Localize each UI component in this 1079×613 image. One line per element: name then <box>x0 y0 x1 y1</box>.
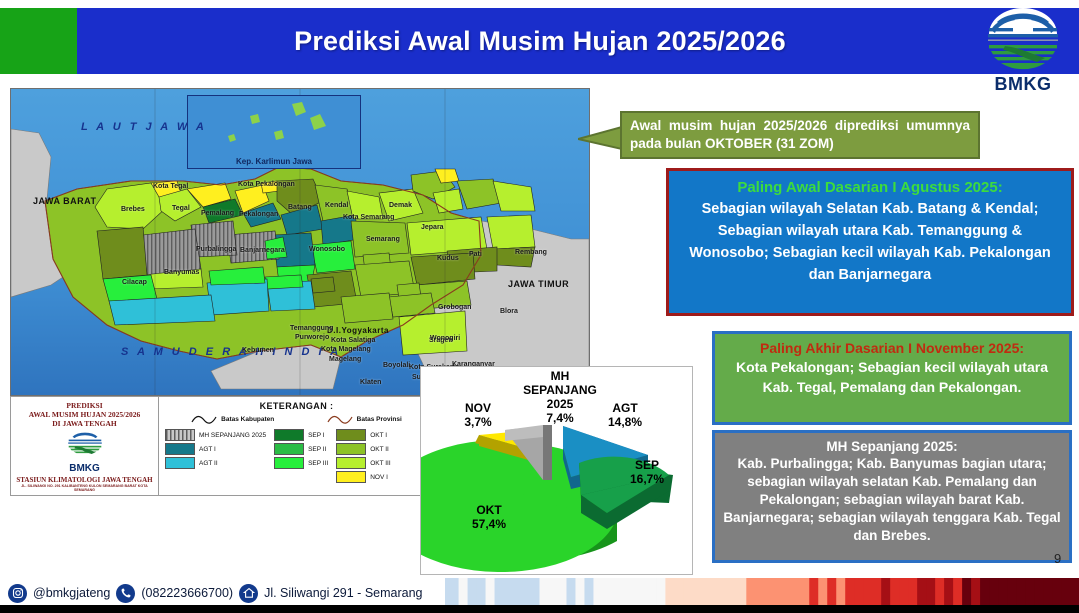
inset-label: Kep. Karlimun Jawa <box>188 157 360 166</box>
sea-label-laut-jawa: L A U T J A W A <box>81 121 207 133</box>
legend-swatch-label: NOV I <box>370 474 388 481</box>
legend-swatch-col-3: OKT I OKT II OKT III NOV I <box>336 429 390 483</box>
legend-swatch-label: OKT III <box>370 460 390 467</box>
region-label-grobogan: Grobogan <box>438 304 471 311</box>
region-label-banyumas: Banyumas <box>164 269 199 276</box>
region-label-purbalingga: Purbalingga <box>196 246 236 253</box>
legend-swatch-mh-sepanjang <box>165 429 195 441</box>
region-label-temanggung: Temanggung <box>290 325 333 332</box>
region-label-kota-magelang: Kota Magelang <box>321 346 371 353</box>
page-number: 9 <box>1054 551 1061 566</box>
legend-swatch-item: OKT II <box>336 443 390 455</box>
pie-label-mh-pct: 7,4% <box>546 411 573 425</box>
region-label-kudus: Kudus <box>437 255 459 262</box>
region-label-jepara: Jepara <box>421 224 444 231</box>
region-label-purworejo: Purworejo <box>295 334 329 341</box>
legend-swatch-item: AGT I <box>165 443 266 455</box>
pie-label-mh-line2: SEPANJANG <box>523 383 597 397</box>
legend-swatch-item: SEP III <box>274 457 328 469</box>
legend-swatch-item: AGT II <box>165 457 266 469</box>
legend-swatch-okt-2 <box>336 443 366 455</box>
pie-chart-panel: MH SEPANJANG 2025 7,4% NOV 3,7% AGT 14,8… <box>420 366 693 575</box>
office-address: Jl. Siliwangi 291 - Semarang <box>264 586 422 600</box>
info-box-paling-akhir: Paling Akhir Dasarian I November 2025: K… <box>712 331 1072 425</box>
legend-swatch-col-1: MH SEPANJANG 2025 AGT I AGT II <box>165 429 266 483</box>
info-box-paling-awal-body: Sebagian wilayah Selatan Kab. Batang & K… <box>679 198 1061 286</box>
map-image: Kep. Karlimun Jawa L A U T J A W A S A M… <box>10 88 590 396</box>
karimun-inset-vector <box>188 96 358 166</box>
bmkg-logo-text: BMKG <box>975 74 1071 94</box>
info-box-paling-awal: Paling Awal Dasarian I Agustus 2025: Seb… <box>666 168 1074 316</box>
pie-label-okt-name: OKT <box>476 503 501 517</box>
pie-label-sep: SEP 16,7% <box>619 458 675 486</box>
pie-label-sep-name: SEP <box>635 458 659 472</box>
legend-swatch-item: OKT III <box>336 457 390 469</box>
region-label-brebes: Brebes <box>121 206 145 213</box>
region-label-banjarnegara: Banjarnegara <box>240 247 285 254</box>
region-label-kota-salatiga: Kota Salatiga <box>331 337 375 344</box>
legend-swatch-label: OKT II <box>370 446 389 453</box>
legend-swatch-nov-1 <box>336 471 366 483</box>
pie-label-sep-pct: 16,7% <box>630 472 664 486</box>
legend-boundary-kabupaten-label: Batas Kabupaten <box>221 416 274 423</box>
neighbour-label-jawa-barat: JAWA BARAT <box>33 196 97 206</box>
region-label-batang: Batang <box>288 204 312 211</box>
region-label-pati: Pati <box>469 251 482 258</box>
callout-awal-musim: Awal musim hujan 2025/2026 diprediksi um… <box>620 111 980 159</box>
pie-label-okt: OKT 57,4% <box>458 503 520 531</box>
legend-title-line2: AWAL MUSIM HUJAN 2025/2026 <box>14 410 155 419</box>
legend-title-line3: DI JAWA TENGAH <box>14 419 155 428</box>
legend-swatch-agt-1 <box>165 443 195 455</box>
region-label-kota-tegal: Kota Tegal <box>153 183 188 190</box>
pie-label-agt: AGT 14,8% <box>594 401 656 429</box>
bmkg-logo-mark <box>975 8 1071 74</box>
legend-swatch-agt-2 <box>165 457 195 469</box>
legend-title-line1: PREDIKSI <box>14 401 155 410</box>
legend-boundary-provinsi-label: Batas Provinsi <box>357 416 402 423</box>
region-label-rembang: Rembang <box>515 249 547 256</box>
bmkg-logo: BMKG <box>975 8 1071 100</box>
region-label-kota-pekalongan: Kota Pekalongan <box>238 181 295 188</box>
phone-icon[interactable] <box>116 584 135 603</box>
legend-swatch-label: AGT I <box>199 446 216 453</box>
pie-label-nov-pct: 3,7% <box>464 415 491 429</box>
footer-contact-bar: @bmkgjateng (082223666700) Jl. Siliwangi… <box>0 578 445 608</box>
legend-swatch-sep-2 <box>274 443 304 455</box>
legend-swatch-label: SEP I <box>308 432 325 439</box>
region-label-pekalongan: Pekalongan <box>239 211 278 218</box>
neighbour-label-diy: D.I.Yogyakarta <box>327 326 389 335</box>
callout-awal-text: Awal musim hujan 2025/2026 diprediksi um… <box>630 117 970 153</box>
legend-org: STASIUN KLIMATOLOGI JAWA TENGAH <box>14 476 155 484</box>
legend-swatch-item: SEP I <box>274 429 328 441</box>
pie-label-okt-pct: 57,4% <box>472 517 506 531</box>
legend-swatch-sep-1 <box>274 429 304 441</box>
region-label-semarang: Semarang <box>366 236 400 243</box>
sea-label-samudera-hindia: S A M U D E R A H I N D I A <box>121 346 341 358</box>
legend-swatch-label: OKT I <box>370 432 387 439</box>
pie-label-mh-line3: 2025 <box>547 397 574 411</box>
legend-keterangan: KETERANGAN : Batas Kabupaten Batas Provi… <box>159 397 435 495</box>
region-label-boyolali: Boyolali <box>383 362 410 369</box>
pie-label-mh-line1: MH <box>551 369 570 383</box>
wavy-line-icon <box>327 414 353 425</box>
legend-swatch-item: SEP II <box>274 443 328 455</box>
legend-swatch-label: AGT II <box>199 460 218 467</box>
home-icon[interactable] <box>239 584 258 603</box>
region-label-magelang: Magelang <box>329 356 361 363</box>
legend-swatch-okt-1 <box>336 429 366 441</box>
region-label-wonogiri: Wonogiri <box>430 335 460 342</box>
info-box-paling-akhir-heading: Paling Akhir Dasarian I November 2025: <box>723 339 1061 357</box>
legend-swatch-sep-3 <box>274 457 304 469</box>
legend-swatch-label: MH SEPANJANG 2025 <box>199 432 266 439</box>
region-label-kendal: Kendal <box>325 202 348 209</box>
page-title: Prediksi Awal Musim Hujan 2025/2026 <box>110 8 970 74</box>
pie-label-nov-name: NOV <box>465 401 491 415</box>
region-label-kebumen: Kebumen <box>242 347 274 354</box>
region-label-pemalang: Pemalang <box>201 210 234 217</box>
legend-bmkg-logo-icon <box>62 430 108 457</box>
legend-swatch-item: MH SEPANJANG 2025 <box>165 429 266 441</box>
legend-swatch-label: SEP III <box>308 460 328 467</box>
instagram-icon[interactable] <box>8 584 27 603</box>
region-label-kota-semarang: Kota Semarang <box>343 214 394 221</box>
pie-label-nov: NOV 3,7% <box>449 401 507 429</box>
info-box-mh-sepanjang-heading: MH Sepanjang 2025: <box>723 438 1061 455</box>
legend-bmkg-text: BMKG <box>14 463 155 474</box>
header-band: Prediksi Awal Musim Hujan 2025/2026 <box>0 8 1079 74</box>
header-green-block <box>0 8 77 74</box>
legend-boundary-provinsi: Batas Provinsi <box>327 414 402 425</box>
legend-title-block: PREDIKSI AWAL MUSIM HUJAN 2025/2026 DI J… <box>11 397 159 495</box>
karimun-jawa-inset: Kep. Karlimun Jawa <box>187 95 361 169</box>
pie-label-mh-sepanjang: MH SEPANJANG 2025 7,4% <box>514 369 606 425</box>
wavy-line-icon <box>191 414 217 425</box>
region-label-wonosobo: Wonosobo <box>309 246 345 253</box>
instagram-handle[interactable]: @bmkgjateng <box>33 586 110 600</box>
region-label-demak: Demak <box>389 202 412 209</box>
info-box-paling-akhir-body: Kota Pekalongan; Sebagian kecil wilayah … <box>723 357 1061 397</box>
info-box-paling-awal-heading: Paling Awal Dasarian I Agustus 2025: <box>679 178 1061 198</box>
footer-black-bar <box>0 605 1079 613</box>
pie-label-agt-name: AGT <box>612 401 637 415</box>
legend-swatch-col-2: SEP I SEP II SEP III <box>274 429 328 483</box>
pie-label-agt-pct: 14,8% <box>608 415 642 429</box>
callout-tail-icon <box>578 125 622 151</box>
region-label-tegal: Tegal <box>172 205 190 212</box>
phone-number[interactable]: (082223666700) <box>141 586 233 600</box>
legend-boundary-row: Batas Kabupaten Batas Provinsi <box>165 414 428 425</box>
info-box-mh-sepanjang: MH Sepanjang 2025: Kab. Purbalingga; Kab… <box>712 430 1072 563</box>
legend-swatch-label: SEP II <box>308 446 326 453</box>
neighbour-label-jawa-timur: JAWA TIMUR <box>508 279 569 289</box>
region-label-klaten: Klaten <box>360 379 381 386</box>
legend-swatch-item: NOV I <box>336 471 390 483</box>
legend-keterangan-title: KETERANGAN : <box>165 401 428 411</box>
legend-swatch-item: OKT I <box>336 429 390 441</box>
legend-address: JL. SILIWANGI NO. 291 KALIBANTENG KULON … <box>14 484 155 493</box>
region-label-blora: Blora <box>500 308 518 315</box>
legend-swatch-columns: MH SEPANJANG 2025 AGT I AGT II SEP I <box>165 429 428 483</box>
region-label-cilacap: Cilacap <box>122 279 147 286</box>
legend-swatch-okt-3 <box>336 457 366 469</box>
info-box-mh-sepanjang-body: Kab. Purbalingga; Kab. Banyumas bagian u… <box>723 455 1061 545</box>
legend-boundary-kabupaten: Batas Kabupaten <box>191 414 274 425</box>
